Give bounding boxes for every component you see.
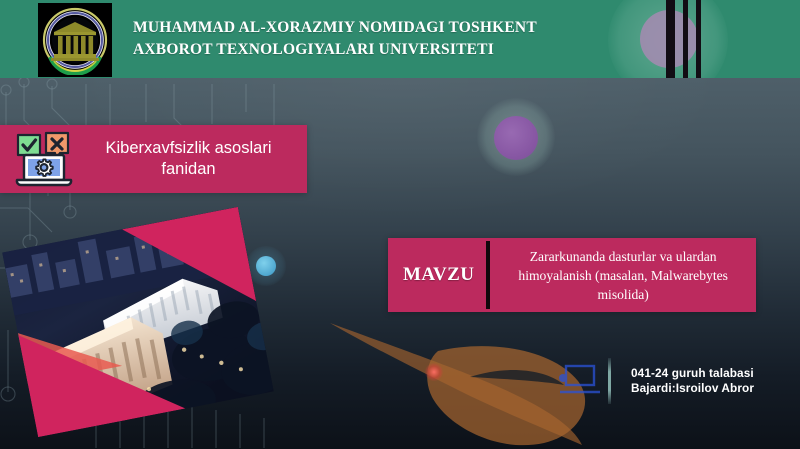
- university-header-bar: MUHAMMAD AL-XORAZMIY NOMIDAGI TOSHKENT A…: [0, 0, 800, 78]
- author-group: 041-24 guruh talabasi: [631, 366, 754, 381]
- purple-orb-decoration: [494, 116, 538, 160]
- university-name-line2: AXBOROT TEXNOLOGIYALARI UNIVERSITETI: [133, 39, 693, 61]
- blue-laptop-glyph-decoration: [558, 362, 602, 396]
- university-logo: [38, 3, 112, 77]
- university-emblem-icon: [40, 5, 110, 75]
- topic-box: MAVZU Zararkunanda dasturlar va ulardan …: [388, 238, 756, 312]
- topic-label: MAVZU: [388, 264, 486, 286]
- university-building-photo: [2, 207, 273, 437]
- university-name: MUHAMMAD AL-XORAZMIY NOMIDAGI TOSHKENT A…: [133, 17, 693, 61]
- red-glow-dot-decoration: [425, 363, 443, 381]
- author-divider-rule: [608, 358, 611, 404]
- topic-text: Zararkunanda dasturlar va ulardan himoya…: [490, 247, 756, 304]
- cyan-dot-decoration: [256, 256, 276, 276]
- author-block: 041-24 guruh talabasi Bajardi:Isroilov A…: [608, 358, 754, 404]
- laptop-gear-security-icon: [12, 129, 74, 189]
- subject-banner: Kiberxavfsizlik asoslari fanidan: [0, 125, 307, 193]
- presentation-slide: MUHAMMAD AL-XORAZMIY NOMIDAGI TOSHKENT A…: [0, 0, 800, 449]
- university-name-line1: MUHAMMAD AL-XORAZMIY NOMIDAGI TOSHKENT: [133, 19, 537, 36]
- author-info: 041-24 guruh talabasi Bajardi:Isroilov A…: [631, 366, 754, 396]
- header-vertical-bar-3: [696, 0, 701, 78]
- author-name: Bajardi:Isroilov Abror: [631, 381, 754, 396]
- subject-banner-text: Kiberxavfsizlik asoslari fanidan: [74, 138, 307, 180]
